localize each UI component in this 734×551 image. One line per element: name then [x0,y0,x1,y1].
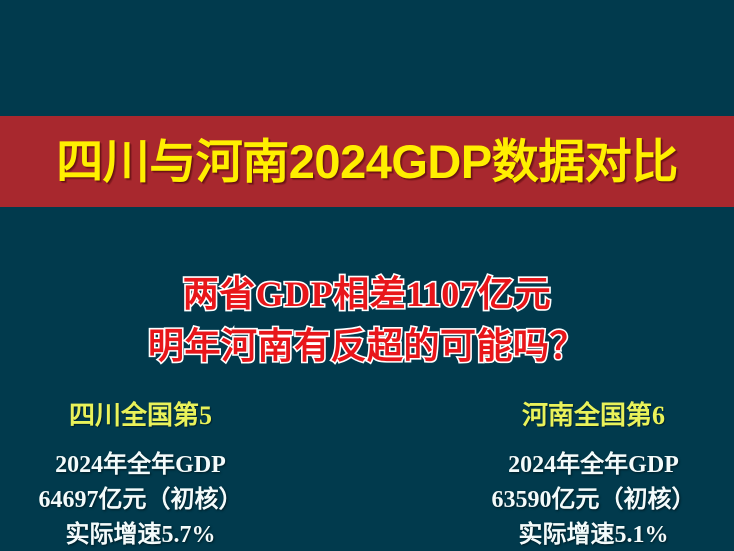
province-details-sichuan: 2024年全年GDP 64697亿元（初核） 实际增速5.7% [0,448,281,551]
detail-line-gdp-value-henan: 63590亿元（初核） [453,483,734,518]
detail-line-gdp-label-henan: 2024年全年GDP [453,448,734,483]
province-heading-henan: 河南全国第6 [453,398,734,434]
headline-line-1: 两省GDP相差1107亿元 [0,268,734,320]
title-banner: 四川与河南2024GDP数据对比 [0,116,734,207]
province-heading-sichuan: 四川全国第5 [0,398,281,434]
comparison-section: 四川全国第5 2024年全年GDP 64697亿元（初核） 实际增速5.7% 河… [0,398,734,551]
detail-line-gdp-value-sichuan: 64697亿元（初核） [0,483,281,518]
poster-canvas: 四川与河南2024GDP数据对比 两省GDP相差1107亿元 明年河南有反超的可… [0,0,734,551]
detail-line-growth-henan: 实际增速5.1% [453,518,734,551]
province-details-henan: 2024年全年GDP 63590亿元（初核） 实际增速5.1% [453,448,734,551]
headline-line-2: 明年河南有反超的可能吗？ [0,320,734,372]
detail-line-growth-sichuan: 实际增速5.7% [0,518,281,551]
detail-line-gdp-label-sichuan: 2024年全年GDP [0,448,281,483]
poster-title: 四川与河南2024GDP数据对比 [56,138,677,185]
province-column-sichuan: 四川全国第5 2024年全年GDP 64697亿元（初核） 实际增速5.7% [0,398,367,551]
headline-block: 两省GDP相差1107亿元 明年河南有反超的可能吗？ [0,268,734,372]
province-column-henan: 河南全国第6 2024年全年GDP 63590亿元（初核） 实际增速5.1% [367,398,734,551]
